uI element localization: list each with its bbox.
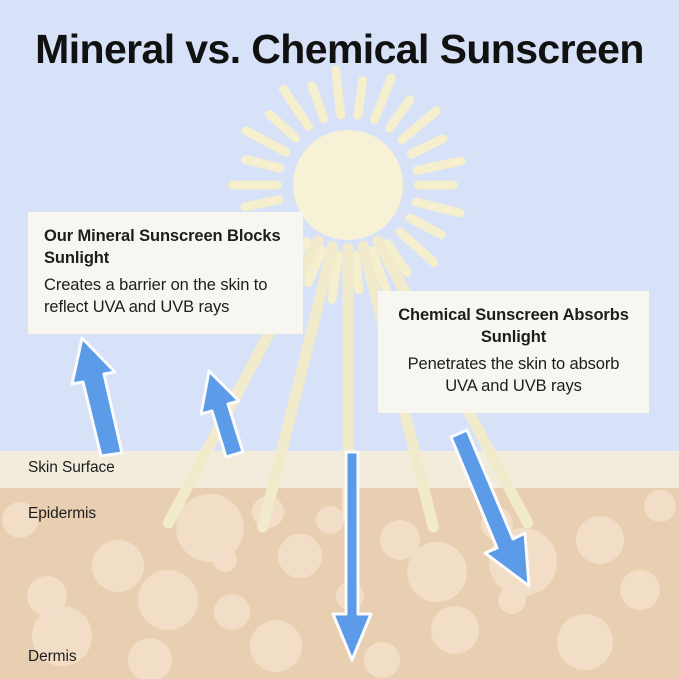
callout-chemical-heading: Chemical Sunscreen Absorbs Sunlight (394, 305, 633, 349)
callout-mineral-body: Creates a barrier on the skin to reflect… (44, 274, 287, 318)
page-title: Mineral vs. Chemical Sunscreen (0, 24, 679, 74)
label-skin-surface: Skin Surface (28, 459, 115, 477)
reflected-ray-arrow-left (72, 338, 122, 456)
label-epidermis: Epidermis (28, 505, 96, 523)
callout-mineral-sunscreen: Our Mineral Sunscreen Blocks Sunlight Cr… (28, 212, 303, 334)
reflected-ray-arrow-right (201, 371, 243, 457)
callout-mineral-heading: Our Mineral Sunscreen Blocks Sunlight (44, 226, 287, 270)
absorbed-ray-arrow-diagonal (451, 430, 529, 586)
sunscreen-infographic: Mineral vs. Chemical Sunscreen Our Miner… (0, 0, 679, 679)
absorbed-ray-arrow-center (333, 452, 371, 660)
label-dermis: Dermis (28, 648, 76, 666)
callout-chemical-body: Penetrates the skin to absorb UVA and UV… (394, 353, 633, 397)
callout-chemical-sunscreen: Chemical Sunscreen Absorbs Sunlight Pene… (378, 291, 649, 413)
